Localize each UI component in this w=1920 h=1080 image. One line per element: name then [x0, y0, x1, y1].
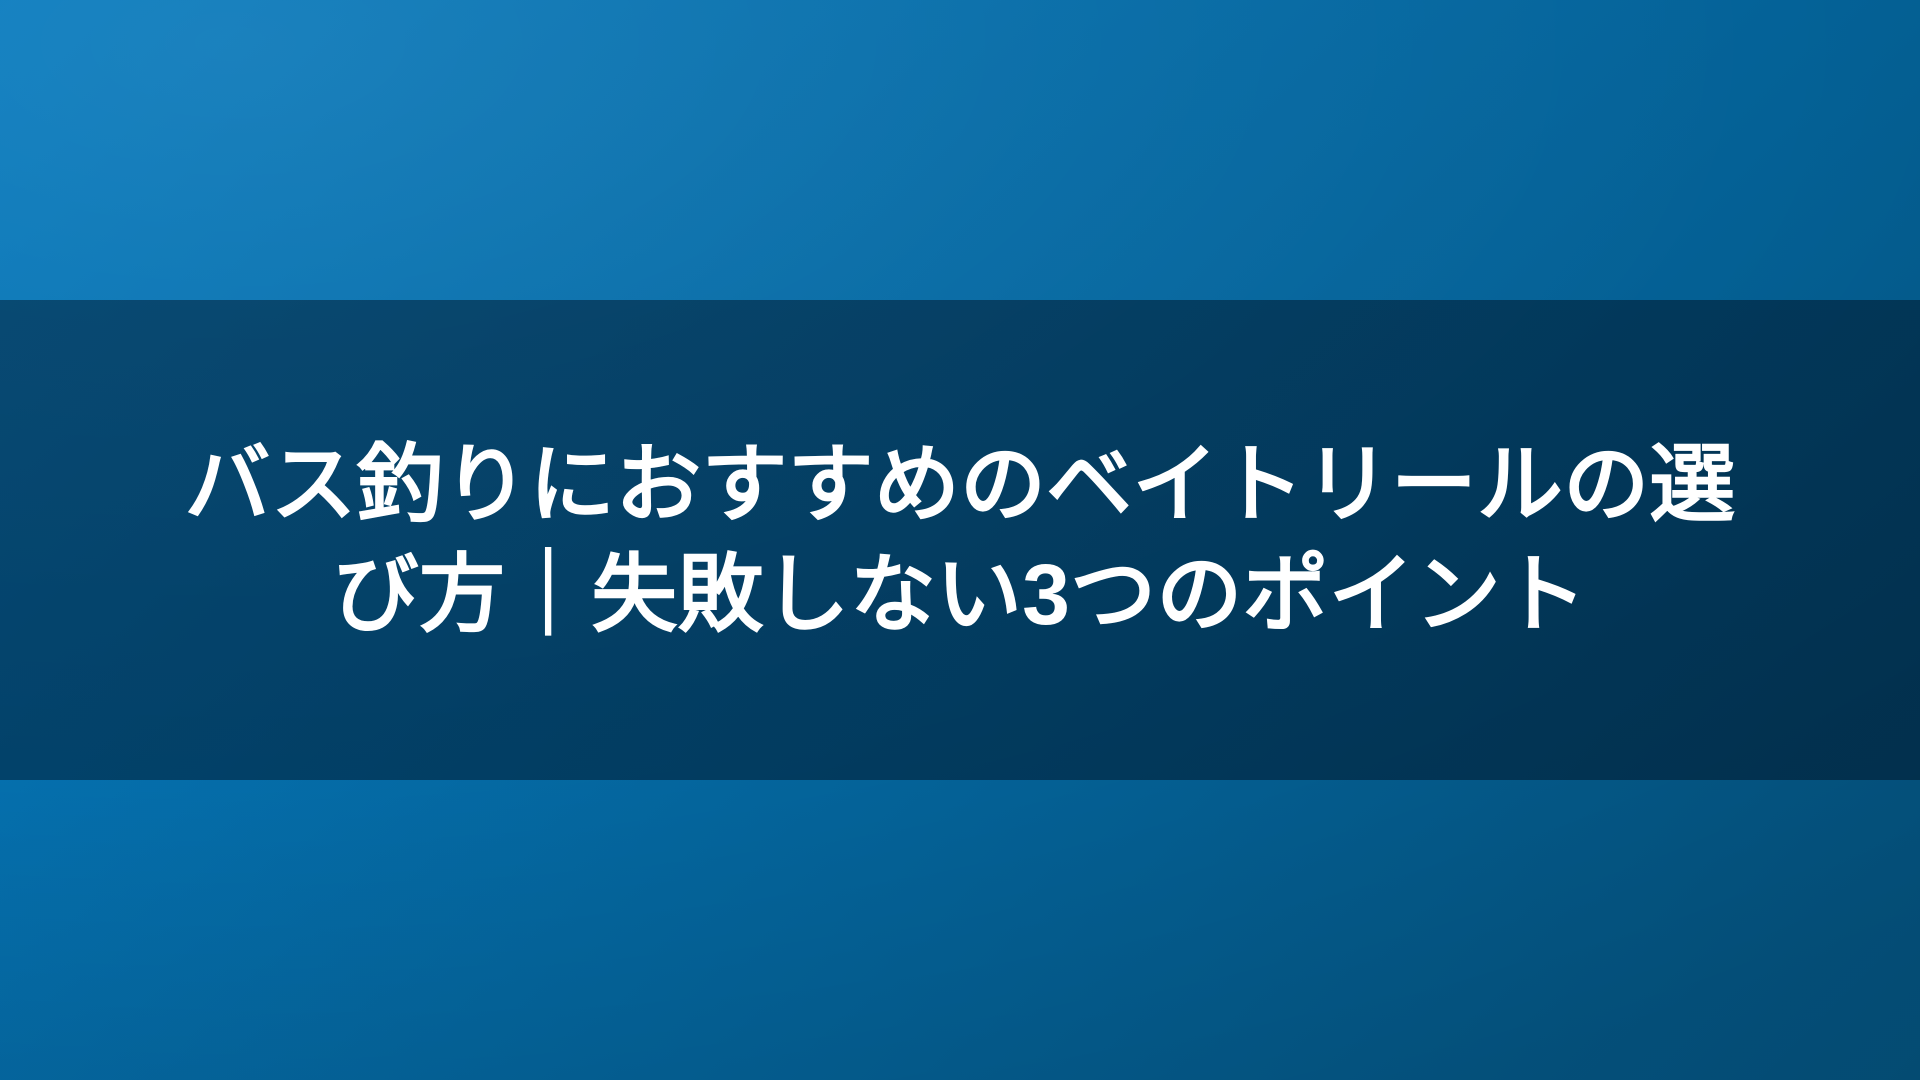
ogp-title-card: バス釣りにおすすめのベイトリールの選び方｜失敗しない3つのポイント — [0, 0, 1920, 1080]
page-title: バス釣りにおすすめのベイトリールの選び方｜失敗しない3つのポイント — [150, 430, 1770, 650]
title-band-overlay: バス釣りにおすすめのベイトリールの選び方｜失敗しない3つのポイント — [0, 300, 1920, 780]
